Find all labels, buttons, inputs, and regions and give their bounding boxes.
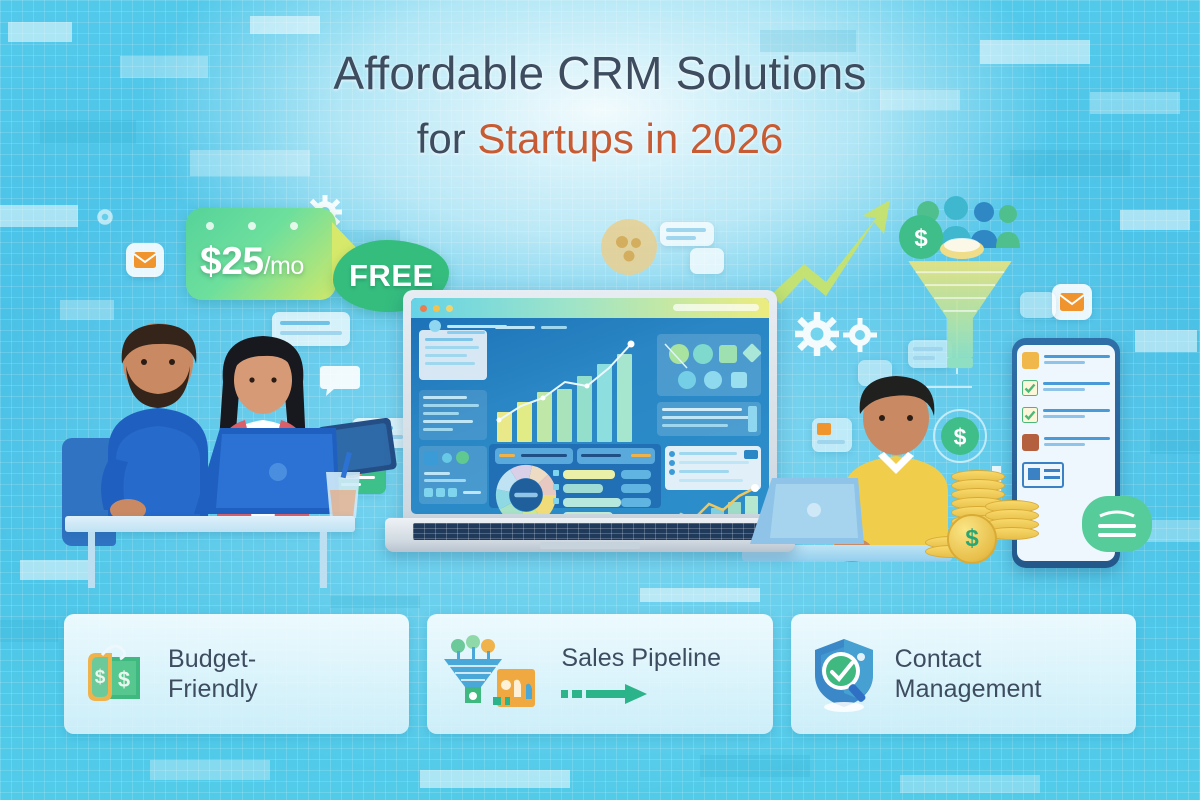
dashboard-list-left	[419, 390, 487, 440]
gear-icon-decor-3	[795, 312, 839, 356]
feature-cards: $ $ Budget- Friendly	[64, 614, 1136, 734]
price-label: $25/mo	[200, 240, 304, 284]
contact-row[interactable]	[1022, 407, 1110, 423]
svg-text:$: $	[914, 225, 928, 252]
drink-cup	[320, 464, 366, 522]
contact-lines	[1044, 355, 1110, 367]
window-dot-minimize[interactable]	[433, 305, 440, 312]
bar-series	[497, 354, 632, 442]
dashboard-tab-2[interactable]	[577, 448, 655, 464]
dashboard-workflow	[657, 334, 761, 396]
laptop-right	[748, 470, 868, 550]
hero-banner: Affordable CRM Solutions for Startups in…	[0, 0, 1200, 800]
contact-lines	[1043, 382, 1110, 394]
laptop-keyboard[interactable]	[413, 523, 767, 540]
desk-surface-left	[65, 516, 355, 532]
feature-label-line1: Contact	[895, 645, 982, 673]
team-illustration-left	[40, 320, 370, 580]
window-dot-close[interactable]	[420, 305, 427, 312]
gear-icon-decor-4	[843, 318, 877, 352]
coin-decor-icon	[600, 218, 658, 276]
title-line-2-accent: Startups in 2026	[477, 115, 783, 162]
arrow-right-icon	[561, 683, 651, 705]
page-title: Affordable CRM Solutions for Startups in…	[0, 46, 1200, 164]
window-dot-maximize[interactable]	[446, 305, 453, 312]
check-icon	[1022, 407, 1038, 423]
envelope-icon	[1060, 293, 1084, 311]
feature-card-contacts[interactable]: Contact Management	[791, 614, 1136, 734]
dashboard-tab-1[interactable]	[495, 448, 573, 464]
svg-text:$: $	[118, 667, 130, 692]
ghost-card-right-2	[1020, 292, 1056, 318]
desk-leg	[88, 532, 95, 588]
dashboard-growth-chart	[665, 484, 761, 514]
dashboard-bar-chart	[493, 334, 643, 442]
free-label: FREE	[349, 258, 434, 294]
url-bar[interactable]	[673, 304, 759, 311]
dashboard-kanban-mini	[419, 446, 487, 504]
contact-row[interactable]	[1022, 434, 1110, 451]
dashboard-sidebar	[419, 330, 487, 380]
title-line-2: for Startups in 2026	[0, 114, 1200, 164]
contact-lines	[1043, 409, 1110, 421]
feature-label-line2: Friendly	[168, 675, 258, 703]
dashboard-screen	[411, 298, 769, 514]
laptop-lid	[403, 290, 777, 522]
ghost-card-top-2	[690, 248, 724, 274]
avatar	[1022, 434, 1039, 451]
contact-row[interactable]	[1022, 352, 1110, 369]
feature-card-budget[interactable]: $ $ Budget- Friendly	[64, 614, 409, 734]
email-chip-left	[126, 243, 164, 277]
desk-leg	[320, 532, 327, 588]
dashboard-user-chip[interactable]	[429, 320, 441, 332]
browser-titlebar	[411, 298, 769, 318]
feature-label: Budget- Friendly	[168, 644, 258, 705]
shield-search-icon	[805, 635, 883, 713]
ghost-card-top-1	[660, 222, 714, 246]
feature-label: Contact Management	[895, 644, 1042, 705]
laptop-trackpad[interactable]	[540, 542, 640, 549]
feature-label: Sales Pipeline	[561, 643, 721, 706]
email-chip-right	[1052, 284, 1092, 320]
funnel-icon-large	[900, 250, 1020, 370]
price-amount: $25	[200, 240, 264, 283]
price-period: /mo	[264, 252, 304, 280]
check-icon	[1022, 380, 1038, 396]
contact-row[interactable]	[1022, 380, 1110, 396]
envelope-icon	[134, 252, 156, 268]
avatar	[1022, 352, 1039, 369]
laptop-dashboard	[385, 290, 795, 590]
svg-text:$: $	[95, 667, 106, 688]
feature-label-line1: Budget-	[168, 645, 256, 673]
coin-dollar-face: $	[947, 514, 997, 564]
title-line-2-prefix: for	[417, 115, 478, 162]
title-line-1: Affordable CRM Solutions	[0, 46, 1200, 100]
feature-label-line1: Sales Pipeline	[561, 644, 721, 672]
workflow-nodes-icon	[657, 334, 761, 396]
price-tags-icon: $ $	[78, 635, 156, 713]
feature-label-line2: Management	[895, 675, 1042, 703]
funnel-icon	[441, 635, 549, 713]
dashboard-donut-chart	[495, 464, 557, 514]
contact-lines	[1044, 437, 1110, 449]
coin-stacks: $	[925, 470, 1045, 570]
note-bubble-icon	[1082, 496, 1152, 552]
laptop-base	[385, 518, 795, 552]
dashboard-table-right	[657, 402, 761, 436]
gear-icon-decor-2	[94, 206, 116, 228]
funnel-cap-icon	[938, 236, 986, 262]
feature-card-pipeline[interactable]: Sales Pipeline	[427, 614, 772, 734]
